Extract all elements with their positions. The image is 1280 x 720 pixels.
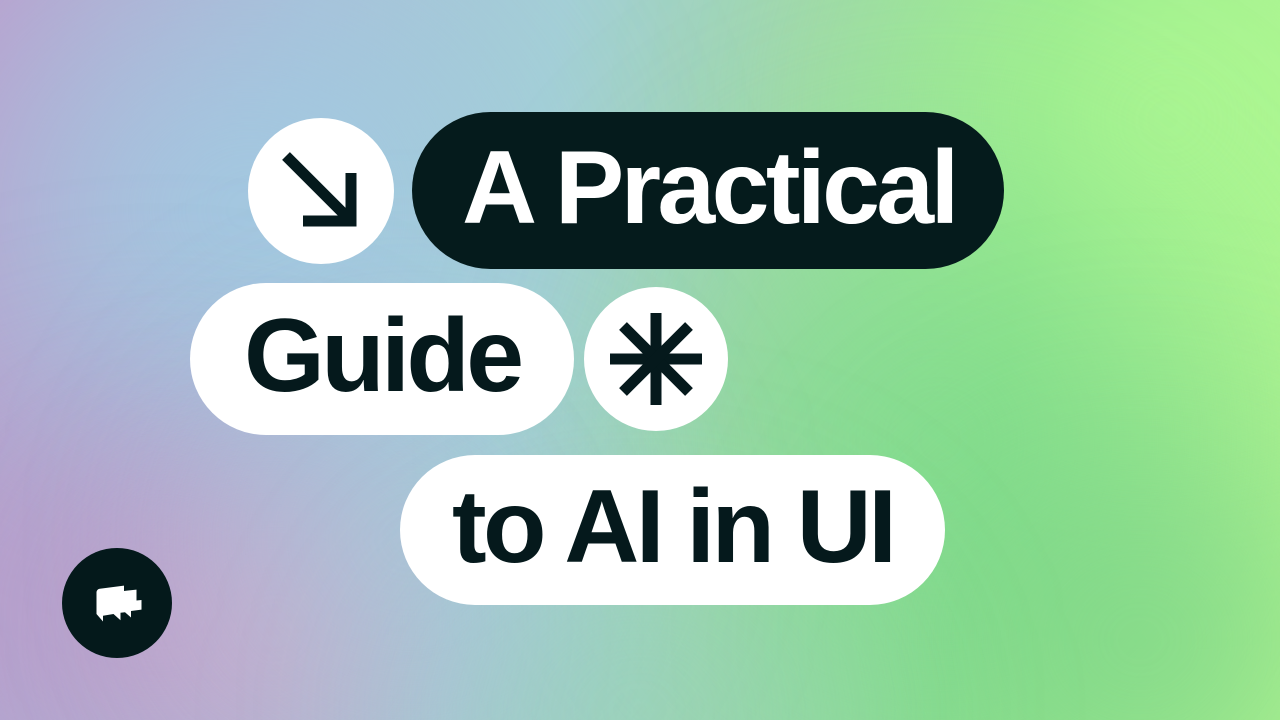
headline-pill-practical: A Practical <box>412 112 1004 269</box>
headline-pill-to-ai-in-ui: to AI in UI <box>400 455 945 605</box>
headline-text-line-2: Guide <box>244 304 520 414</box>
headline-row-2: Guide <box>190 283 728 435</box>
asterisk-icon <box>584 287 728 431</box>
brand-lightning-logo <box>62 548 172 658</box>
headline-row-1: A Practical <box>248 112 1004 269</box>
headline-text-line-3: to AI in UI <box>452 475 893 585</box>
poster-canvas: A Practical Guide <box>0 0 1280 720</box>
headline-row-3: to AI in UI <box>400 455 945 605</box>
headline-pill-guide: Guide <box>190 283 574 435</box>
page-title: A Practical Guide <box>0 0 1280 720</box>
arrow-down-right-icon <box>248 118 394 264</box>
headline-text-line-1: A Practical <box>462 136 956 246</box>
